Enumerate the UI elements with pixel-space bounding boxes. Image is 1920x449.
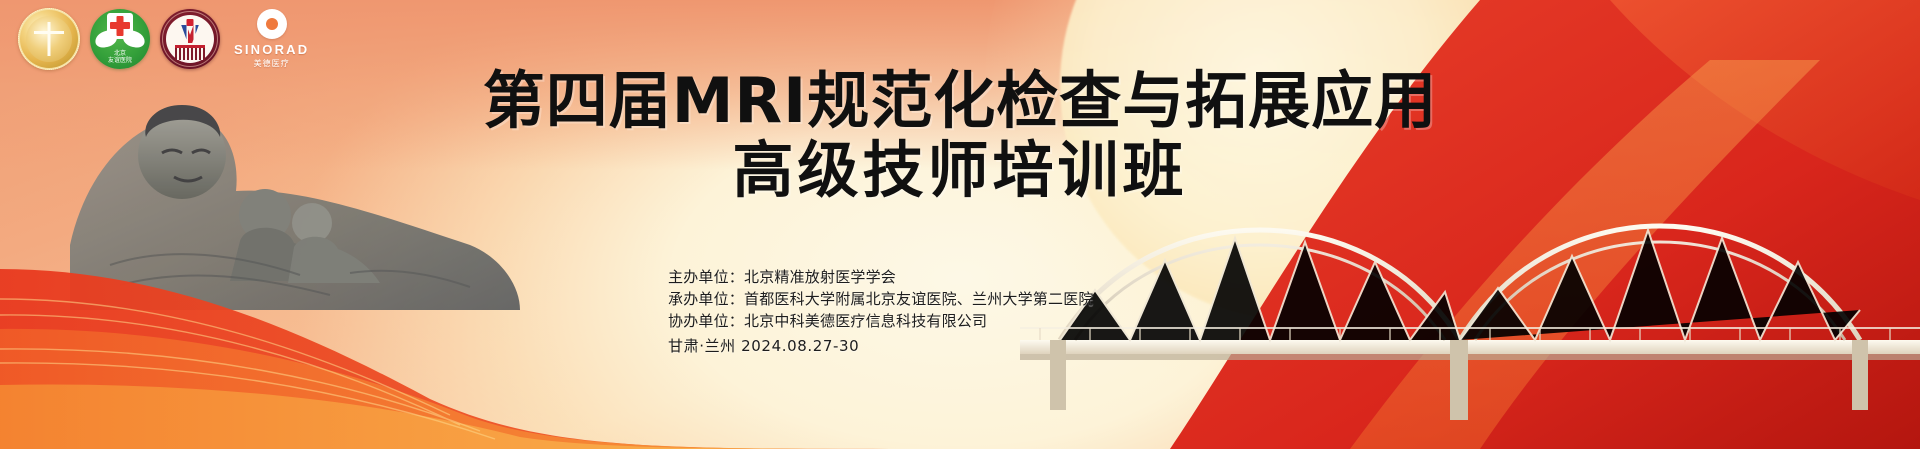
hospital-logo-text: 北京 友谊医院 <box>108 51 132 64</box>
event-info-block: 主办单位：北京精准放射医学学会 承办单位：首都医科大学附属北京友谊医院、兰州大学… <box>668 266 1094 357</box>
organizer-logos: 北京 友谊医院 SINORAD 美德医疗 <box>18 8 309 70</box>
zhongshan-bridge-illustration <box>1020 150 1920 449</box>
sinorad-logo: SINORAD 美德医疗 <box>230 9 309 69</box>
red-cross-icon-bar <box>110 22 130 29</box>
gold-medal-inner <box>26 16 72 62</box>
dove-left-icon <box>94 29 119 49</box>
host-organization-row: 主办单位：北京精准放射医学学会 <box>668 266 1094 288</box>
maroon-logo-building-icon <box>175 45 205 60</box>
coorganizer-organization-row: 协办单位：北京中科美德医疗信息科技有限公司 <box>668 310 1094 332</box>
beijing-friendship-hospital-logo: 北京 友谊医院 <box>90 9 150 69</box>
maroon-institute-logo <box>160 9 220 69</box>
conference-banner: 北京 友谊医院 SINORAD 美德医疗 第四届MRI规范化检查与拓展应用 高级… <box>0 0 1920 449</box>
organizer-organization-row: 承办单位：首都医科大学附属北京友谊医院、兰州大学第二医院 <box>668 288 1094 310</box>
dove-right-icon <box>122 29 147 49</box>
maroon-logo-top-mark <box>187 19 194 26</box>
gold-medal-logo <box>18 8 80 70</box>
location-date-row: 甘肃·兰州 2024.08.27-30 <box>668 335 1094 357</box>
sinorad-sub-text: 美德医疗 <box>254 58 290 69</box>
sinorad-mark-icon <box>257 9 287 39</box>
sinorad-brand-text: SINORAD <box>234 42 309 57</box>
